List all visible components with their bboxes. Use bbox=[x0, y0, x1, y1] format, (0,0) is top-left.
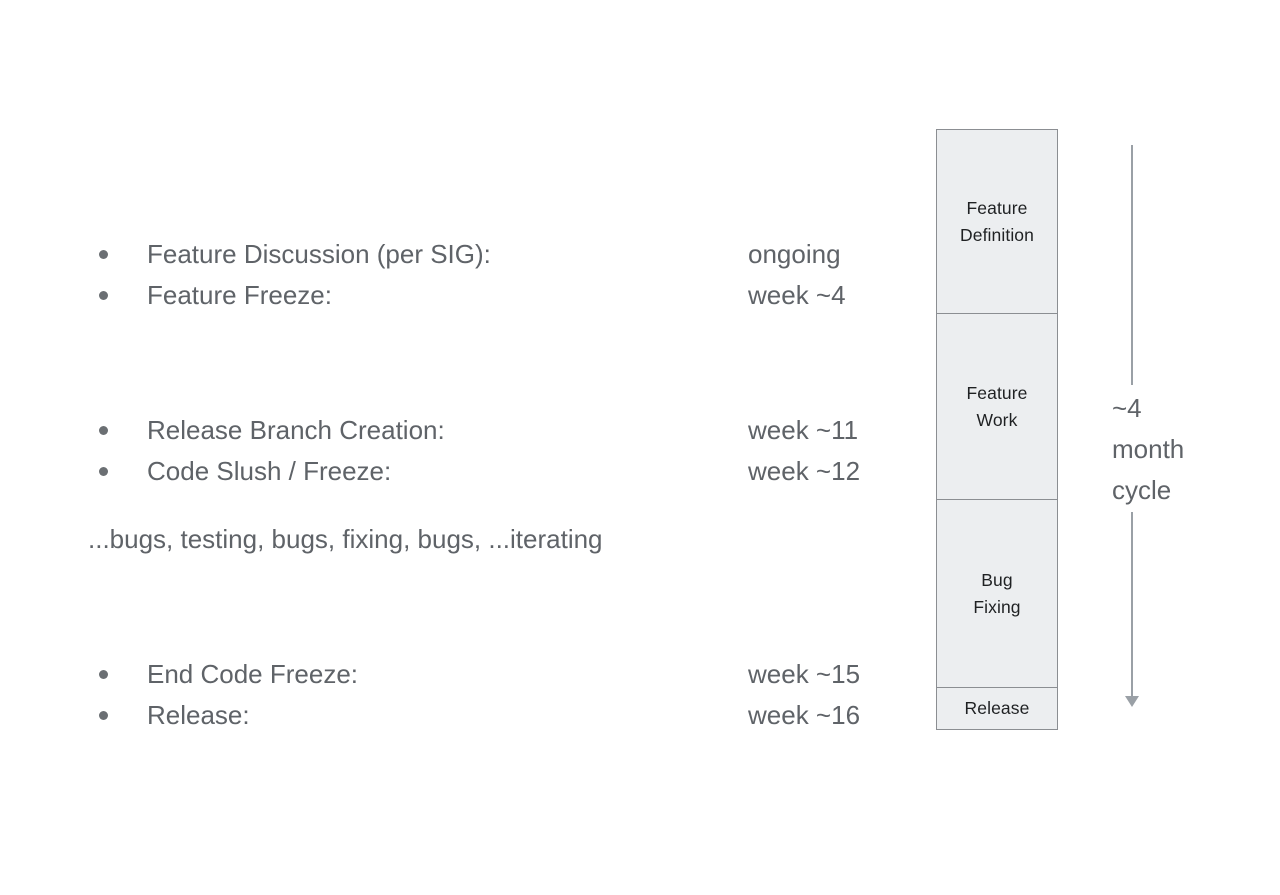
schedule-row: Release: week ~16 bbox=[0, 694, 900, 736]
phase-segment-label: Release bbox=[965, 695, 1030, 722]
schedule-row: End Code Freeze: week ~15 bbox=[0, 653, 900, 695]
arrow-down-icon bbox=[1125, 696, 1139, 707]
schedule-item-label: Feature Freeze: bbox=[147, 274, 332, 316]
phase-segment-feature-work: Feature Work bbox=[936, 313, 1058, 501]
bullet-icon bbox=[99, 467, 108, 476]
slide-canvas: Feature Discussion (per SIG): ongoing Fe… bbox=[0, 0, 1280, 895]
phase-segment-release: Release bbox=[936, 687, 1058, 730]
phase-segment-feature-definition: Feature Definition bbox=[936, 129, 1058, 315]
bullet-icon bbox=[99, 711, 108, 720]
schedule-item-label: Code Slush / Freeze: bbox=[147, 450, 391, 492]
schedule-row: Release Branch Creation: week ~11 bbox=[0, 409, 900, 451]
phase-segment-label: Bug Fixing bbox=[973, 567, 1020, 621]
schedule-row: Feature Discussion (per SIG): ongoing bbox=[0, 233, 900, 275]
schedule-item-label: Release Branch Creation: bbox=[147, 409, 445, 451]
release-schedule-list: Feature Discussion (per SIG): ongoing Fe… bbox=[0, 0, 930, 895]
bullet-icon bbox=[99, 426, 108, 435]
cycle-line-lower bbox=[1131, 512, 1133, 698]
schedule-item-value: ongoing bbox=[748, 233, 841, 275]
cycle-duration-label: ~4 month cycle bbox=[1112, 388, 1184, 511]
iteration-note: ...bugs, testing, bugs, fixing, bugs, ..… bbox=[88, 518, 603, 560]
cycle-line-upper bbox=[1131, 145, 1133, 385]
phase-segment-label: Feature Definition bbox=[960, 195, 1034, 249]
cycle-duration-annotation: ~4 month cycle bbox=[1100, 129, 1240, 729]
schedule-item-label: Feature Discussion (per SIG): bbox=[147, 233, 491, 275]
schedule-item-value: week ~15 bbox=[748, 653, 860, 695]
schedule-item-value: week ~16 bbox=[748, 694, 860, 736]
bullet-icon bbox=[99, 291, 108, 300]
schedule-item-value: week ~12 bbox=[748, 450, 860, 492]
bullet-icon bbox=[99, 250, 108, 259]
bullet-icon bbox=[99, 670, 108, 679]
phase-segment-label: Feature Work bbox=[966, 380, 1027, 434]
schedule-item-value: week ~11 bbox=[748, 409, 858, 451]
phase-segment-bug-fixing: Bug Fixing bbox=[936, 499, 1058, 689]
schedule-item-value: week ~4 bbox=[748, 274, 846, 316]
schedule-item-label: End Code Freeze: bbox=[147, 653, 358, 695]
release-phase-bar: Feature Definition Feature Work Bug Fixi… bbox=[936, 129, 1058, 736]
schedule-row: Code Slush / Freeze: week ~12 bbox=[0, 450, 900, 492]
schedule-item-label: Release: bbox=[147, 694, 250, 736]
schedule-row: Feature Freeze: week ~4 bbox=[0, 274, 900, 316]
